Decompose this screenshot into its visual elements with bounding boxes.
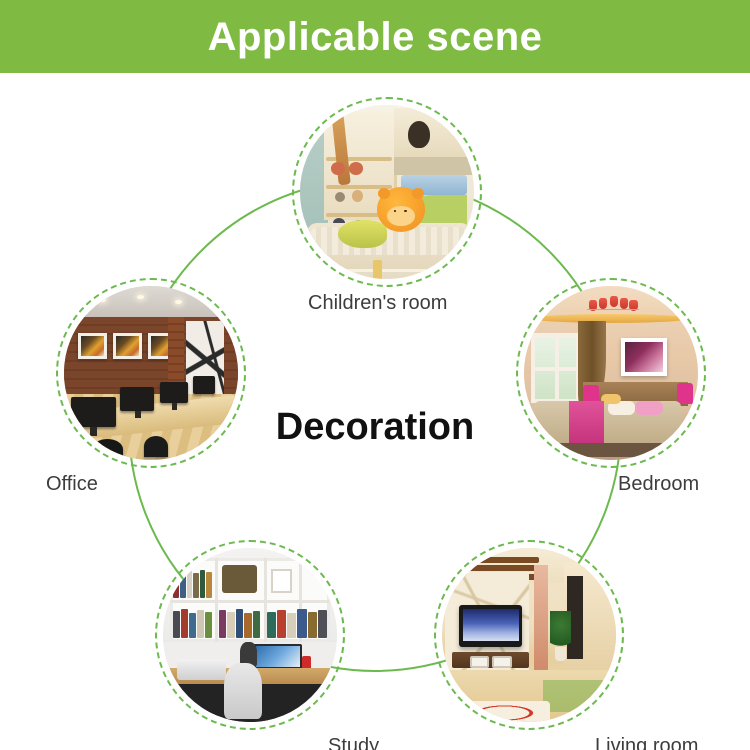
page-title: Applicable scene: [208, 17, 543, 57]
living-room-photo: [442, 548, 616, 722]
diagram-stage: Children's room: [0, 73, 750, 750]
node-label-living-room: Living room: [595, 736, 698, 750]
childrens-room-photo: [300, 105, 474, 279]
center-title: Decoration: [0, 408, 750, 446]
node-label-study: Study: [328, 736, 379, 750]
node-label-bedroom: Bedroom: [618, 474, 699, 494]
header-banner: Applicable scene: [0, 0, 750, 73]
node-living-room[interactable]: Living room: [434, 540, 624, 730]
applicable-scene-infographic: Applicable scene: [0, 0, 750, 750]
node-study[interactable]: Study: [155, 540, 345, 730]
study-photo: [163, 548, 337, 722]
node-label-childrens-room: Children's room: [308, 293, 447, 313]
node-childrens-room[interactable]: Children's room: [292, 97, 482, 287]
node-label-office: Office: [46, 474, 98, 494]
